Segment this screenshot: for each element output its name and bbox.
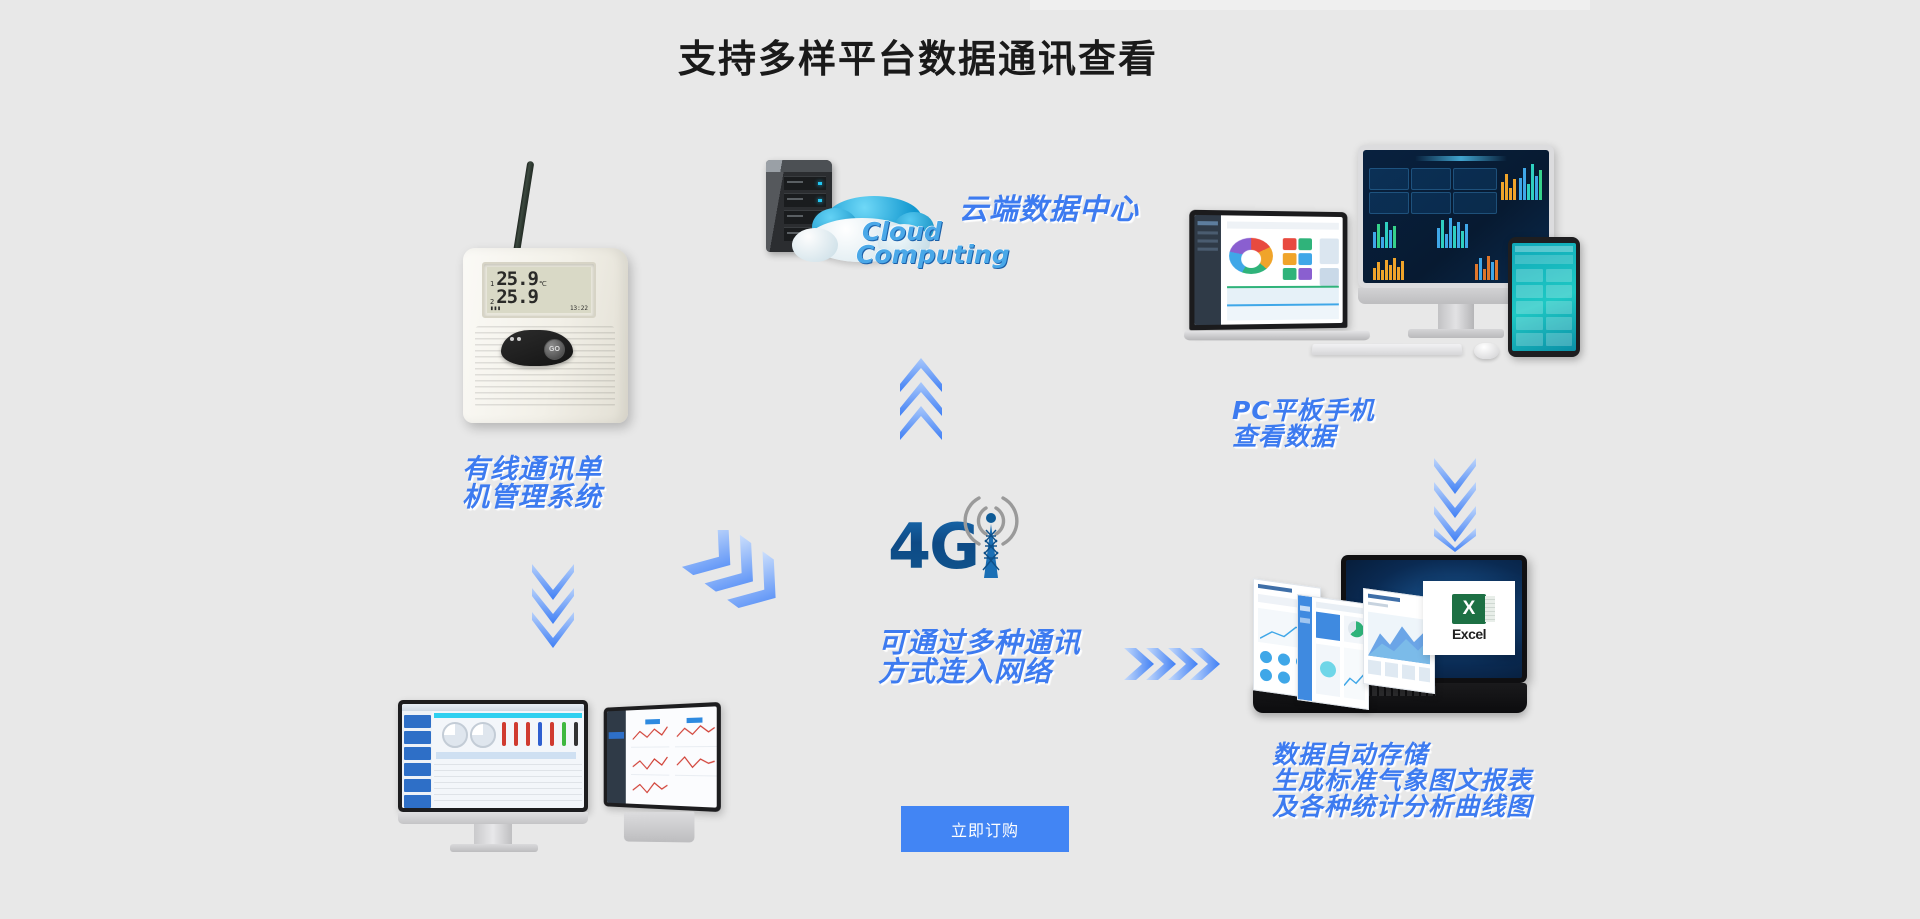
top-highlight-strip [1030,0,1590,10]
monitoring-software-screen [402,704,584,808]
lcd-channel-1-index: 1 [490,281,494,288]
monitor-angled-stand [624,811,695,842]
cloud-caption: 云端数据中心 [959,194,1139,224]
monitor-angled [604,702,721,812]
cloud-logo-line2: Computing [856,243,992,266]
monitor-stand-foot [1408,329,1504,338]
excel-label: Excel [1452,626,1486,642]
chevron-down-arrow-to-storage [1432,456,1478,552]
curve-report-screen [607,706,717,807]
mouse[interactable] [1474,343,1499,359]
page-title-text: 支持多样平台数据通讯查看 [678,28,1158,83]
excel-icon: X [1452,594,1486,624]
report-laptop-graphic: X Excel [1245,555,1535,730]
sensor-caption: 有线通讯单 机管理系统 [462,456,602,512]
monitor-stand-neck [1438,304,1474,332]
chevron-diagonal-arrow-to-network [680,530,800,614]
lcd-channel-2-value: 25.9 [496,288,538,306]
laptop-base [1183,331,1370,341]
lcd-status-bar: ▮▮▮ 13:22 [490,305,588,312]
monitor-front [398,700,588,812]
keyboard[interactable] [1311,344,1462,355]
sensor-front-badge: GO [501,330,573,366]
wireless-sensor-device: 1 25.9 ℃ 2 25.9 ▮▮▮ 13:22 [455,160,645,425]
storage-caption: 数据自动存储 生成标准气象图文报表 及各种统计分析曲线图 [1272,742,1532,820]
monitor-front-neck [474,824,512,846]
page-title: 支持多样平台数据通讯查看 [0,28,1920,83]
go-button[interactable]: GO [544,339,565,360]
rack-unit [784,193,826,207]
laptop-device [1189,210,1347,331]
cloud-computing-logo: Cloud Computing [862,220,992,266]
multi-device-graphic [1190,145,1590,395]
floating-report-panel [1297,594,1369,710]
cell-tower-icon [948,474,1034,582]
chevron-right-arrow-to-report [1120,642,1220,686]
lcd-screen: 1 25.9 ℃ 2 25.9 ▮▮▮ 13:22 [487,267,591,313]
monitor-front-foot [450,844,538,852]
lcd-signal-icon: ▮▮▮ [490,305,501,312]
pc-software-graphic [398,700,718,865]
sensor-body: 1 25.9 ℃ 2 25.9 ▮▮▮ 13:22 [463,248,628,423]
chevron-down-arrow-to-pc [530,560,576,648]
status-led-2 [517,337,521,341]
4g-tower-graphic: 4G [888,474,1028,584]
devices-caption: PC平板手机 查看数据 [1232,398,1375,450]
lcd-frame: 1 25.9 ℃ 2 25.9 ▮▮▮ 13:22 [482,262,596,318]
infographic-canvas: 支持多样平台数据通讯查看 1 25.9 ℃ 2 25.9 ▮▮▮ [0,0,1920,919]
lcd-time: 13:22 [570,305,588,312]
tablet-device [1508,237,1580,357]
tablet-data-screen [1512,243,1576,351]
order-now-button[interactable]: 立即订购 [901,806,1069,852]
status-led-1 [510,337,514,341]
laptop-dashboard-screen [1194,215,1342,325]
network-caption: 可通过多种通讯 方式连入网络 [878,628,1081,686]
rack-unit [784,176,826,190]
chevron-up-arrow-to-cloud [898,348,944,440]
lcd-unit: ℃ [539,280,547,288]
monitor-front-chin [398,812,588,824]
lcd-row-2: 2 25.9 [490,288,588,306]
cloud-data-center-graphic: Cloud Computing [762,160,992,275]
excel-export-card: X Excel [1423,581,1515,655]
